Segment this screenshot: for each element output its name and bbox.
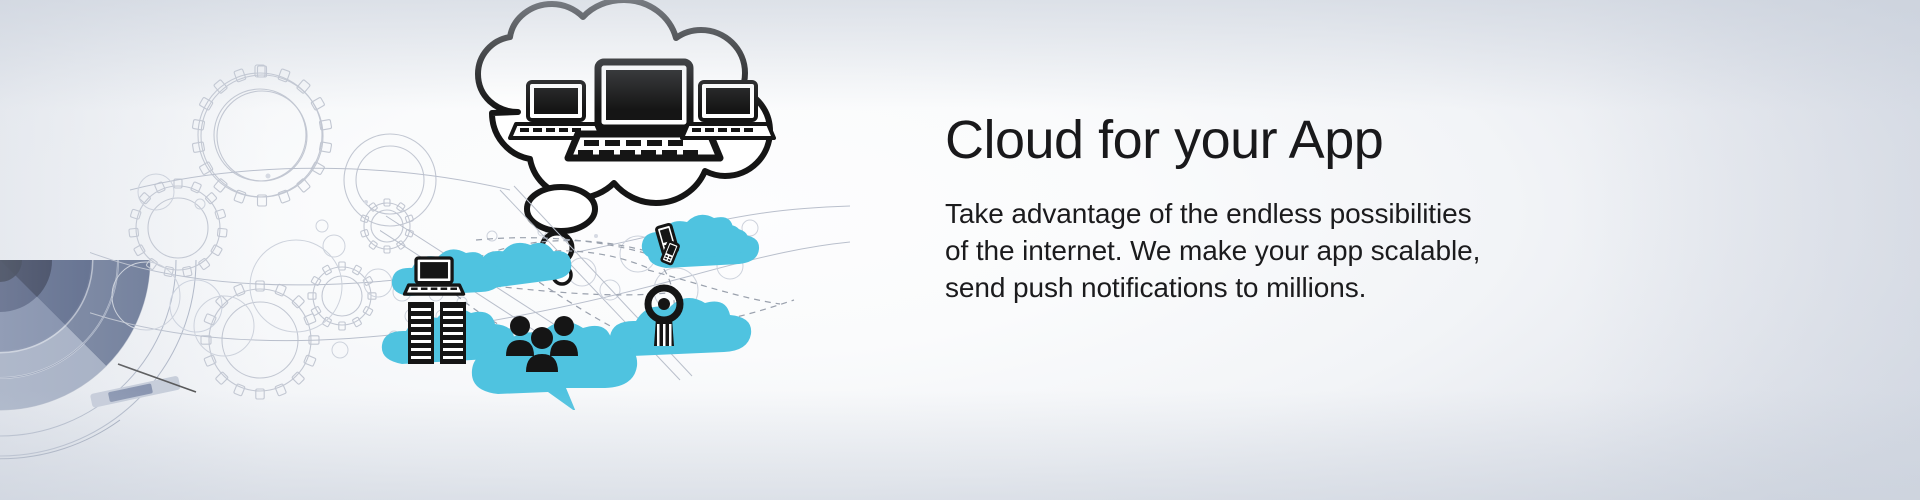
blue-cloud-network — [380, 180, 800, 410]
cloud-banner: Cloud for your App Take advantage of the… — [0, 0, 1920, 500]
description-line-2: of the internet. We make your app scalab… — [945, 232, 1665, 269]
description-line-1: Take advantage of the endless possibilit… — [945, 195, 1665, 232]
text-block: Cloud for your App Take advantage of the… — [945, 112, 1665, 306]
description-line-3: send push notifications to millions. — [945, 269, 1665, 306]
page-title: Cloud for your App — [945, 112, 1665, 169]
node-antenna — [610, 288, 751, 356]
